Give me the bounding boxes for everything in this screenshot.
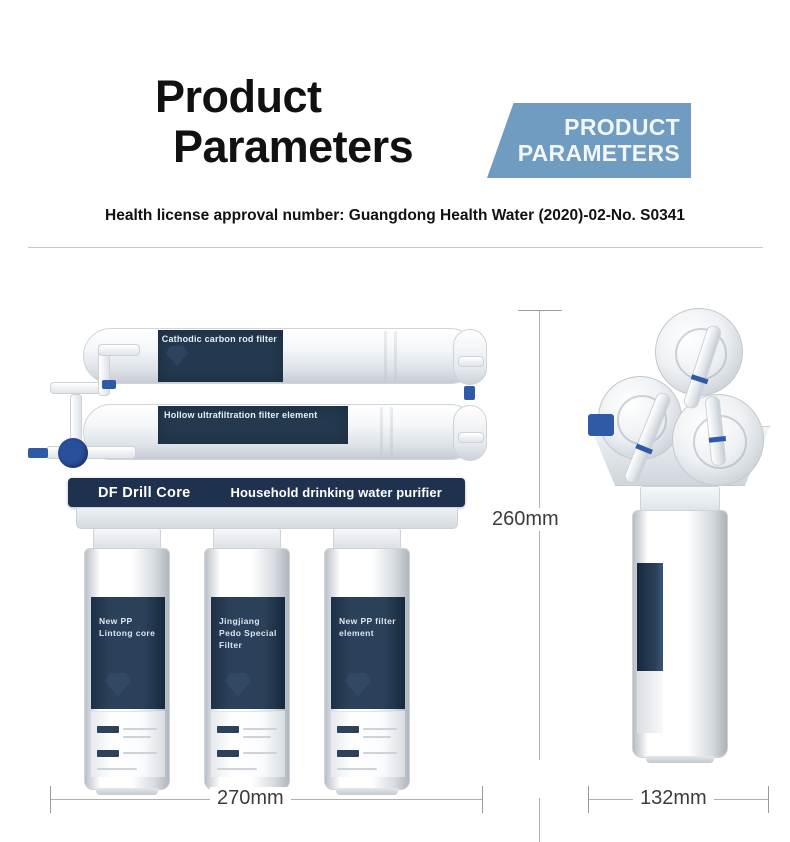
cartridge-label-dark-edge: [637, 563, 663, 671]
blue-valve-fitting[interactable]: [588, 414, 614, 436]
cartridge-body: New PP Lintong core: [84, 548, 170, 790]
blue-pipe-band: [709, 436, 726, 443]
spec-line: [123, 728, 157, 730]
hollow-ultrafiltration-filter-text: Hollow ultrafiltration filter element: [164, 410, 317, 421]
spec-chip: [217, 750, 239, 757]
product-stage: Cathodic carbon rod filter Hollow ultraf…: [0, 258, 790, 842]
side-cartridge: [632, 486, 728, 758]
cartridge-neck: [93, 528, 161, 550]
height-dimension-tick-top: [518, 310, 562, 311]
blue-outlet-fitting: [464, 386, 475, 400]
brand-diamond-icon: [166, 346, 188, 366]
elbow-pipe: [98, 344, 140, 356]
manifold-plate: [76, 507, 458, 529]
cartridge-left: New PP Lintong core: [84, 528, 170, 790]
page-header: Product Parameters PRODUCT PARAMETERS He…: [0, 0, 790, 247]
spec-line: [337, 768, 377, 770]
cartridge-label-text: New PP Lintong core: [99, 615, 165, 639]
spec-line: [123, 752, 157, 754]
badge-text: PRODUCT PARAMETERS: [487, 103, 691, 178]
height-dimension-label: 260mm: [485, 508, 566, 531]
cartridge-foot: [646, 756, 714, 763]
spec-chip: [97, 726, 119, 733]
cartridge-body: [632, 510, 728, 758]
cartridge-body: Jingjiang Pedo Special Filter: [204, 548, 290, 790]
cartridge-label-white: [331, 711, 405, 777]
brand-banner: DF Drill Core Household drinking water p…: [68, 478, 465, 507]
brand-diamond-icon: [345, 673, 371, 697]
brand-diamond-icon: [105, 673, 131, 697]
front-width-tick-right: [482, 786, 483, 813]
badge-line-1: PRODUCT: [564, 115, 680, 140]
spec-line: [217, 768, 257, 770]
side-width-dimension-label: 132mm: [633, 787, 714, 810]
cartridge-neck: [333, 528, 401, 550]
badge-line-2: PARAMETERS: [518, 141, 680, 166]
front-width-dimension-label: 270mm: [210, 787, 291, 810]
spec-line: [123, 736, 151, 738]
outlet-pipe-bottom: [458, 432, 484, 443]
cartridge-label-dark: Jingjiang Pedo Special Filter: [211, 597, 285, 709]
spec-line: [363, 752, 397, 754]
cartridge-label-text: Jingjiang Pedo Special Filter: [219, 615, 285, 651]
cartridge-label-dark: New PP Lintong core: [91, 597, 165, 709]
cartridge-label-white: [211, 711, 285, 777]
side-width-tick-left: [588, 786, 589, 813]
housing-ring: [380, 407, 383, 459]
side-width-tick-right: [768, 786, 769, 813]
cathodic-carbon-rod-filter-text: Cathodic carbon rod filter: [162, 334, 277, 345]
cartridge-foot: [96, 788, 158, 795]
blue-pipe-band: [635, 444, 653, 455]
cartridge-neck: [640, 486, 720, 512]
blue-pipe-band: [102, 380, 116, 389]
cartridge-label-white-edge: [637, 671, 663, 733]
brand-diamond-icon: [225, 673, 251, 697]
hollow-ultrafiltration-filter-label: Hollow ultrafiltration filter element: [158, 406, 348, 444]
brand-name: DF Drill Core: [98, 485, 191, 501]
cartridge-label-text: New PP filter element: [339, 615, 405, 639]
housing-ring: [390, 407, 393, 459]
cartridge-neck: [213, 528, 281, 550]
product-front-view: Cathodic carbon rod filter Hollow ultraf…: [28, 286, 478, 791]
spec-chip: [337, 726, 359, 733]
blue-valve-knob[interactable]: [58, 438, 88, 468]
spec-line: [243, 752, 277, 754]
spec-line: [97, 768, 137, 770]
product-parameters-page: Product Parameters PRODUCT PARAMETERS He…: [0, 0, 790, 842]
front-width-tick-left: [50, 786, 51, 813]
blue-inlet-fitting: [28, 448, 48, 458]
cartridge-label-white: [91, 711, 165, 777]
height-dimension-line-lower: [539, 798, 540, 842]
health-license-subtitle: Health license approval number: Guangdon…: [0, 207, 790, 225]
outlet-pipe-top: [458, 356, 484, 367]
product-parameters-badge: PRODUCT PARAMETERS: [487, 103, 691, 178]
cathodic-carbon-rod-filter-label: Cathodic carbon rod filter: [158, 330, 283, 382]
cartridge-label-dark: New PP filter element: [331, 597, 405, 709]
cartridge-right: New PP filter element: [324, 528, 410, 790]
header-divider: [28, 247, 763, 248]
product-description: Household drinking water purifier: [231, 485, 442, 500]
spec-line: [363, 728, 397, 730]
blue-pipe-band: [691, 374, 709, 384]
housing-ring: [394, 331, 397, 383]
page-title: Product Parameters: [155, 72, 485, 172]
cartridge-middle: Jingjiang Pedo Special Filter: [204, 528, 290, 790]
spec-line: [243, 728, 277, 730]
cartridge-body: New PP filter element: [324, 548, 410, 790]
page-title-line-2: Parameters: [173, 122, 485, 172]
housing-ring: [384, 331, 387, 383]
spec-chip: [337, 750, 359, 757]
spec-line: [243, 736, 271, 738]
spec-chip: [97, 750, 119, 757]
product-side-view: [580, 286, 780, 791]
spec-line: [363, 736, 391, 738]
spec-chip: [217, 726, 239, 733]
height-dimension-line-upper: [539, 310, 540, 760]
cartridge-foot: [336, 788, 398, 795]
page-title-line-1: Product: [155, 72, 485, 122]
